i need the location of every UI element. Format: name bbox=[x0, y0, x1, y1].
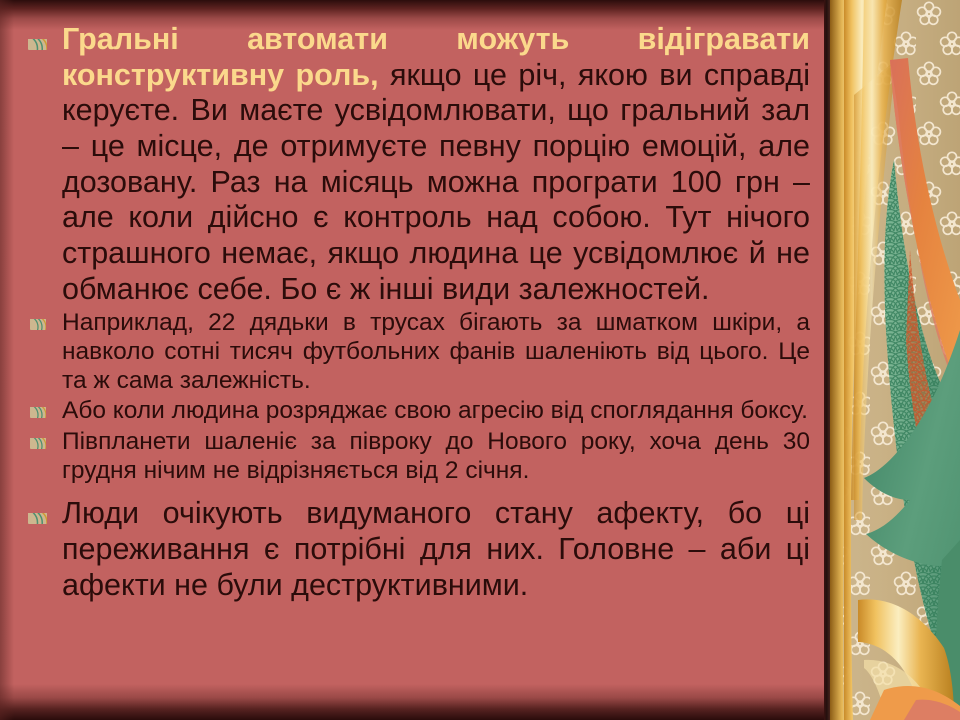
bullet-text: Наприклад, 22 дядьки в трусах бігають за… bbox=[62, 309, 810, 393]
bullet-text: Або коли людина розряджає свою агресію в… bbox=[62, 397, 808, 424]
decoration-dark-edge bbox=[824, 0, 830, 720]
slide-content-body: Гральні автомати можуть відігравати конс… bbox=[0, 0, 824, 720]
list-item: Наприклад, 22 дядьки в трусах бігають за… bbox=[24, 309, 810, 395]
decoration-artwork bbox=[824, 0, 960, 720]
list-item: Півпланети шаленіє за півроку до Нового … bbox=[24, 428, 810, 485]
ornament-bullet-icon bbox=[30, 433, 46, 449]
ornament-bullet-icon bbox=[28, 31, 47, 50]
list-item: Гральні автомати можуть відігравати конс… bbox=[24, 22, 810, 307]
presentation-slide: Гральні автомати можуть відігравати конс… bbox=[0, 0, 960, 720]
oriental-floral-border-decoration bbox=[824, 0, 960, 720]
bullet-list: Гральні автомати можуть відігравати конс… bbox=[24, 22, 810, 603]
bullet-text: Півпланети шаленіє за півроку до Нового … bbox=[62, 428, 810, 484]
bullet-text: якщо це річ, якою ви справді керуєте. Ви… bbox=[62, 58, 810, 306]
ornament-bullet-icon bbox=[30, 402, 46, 418]
ornament-bullet-icon bbox=[28, 505, 47, 524]
list-spacer bbox=[24, 487, 810, 496]
ornament-bullet-icon bbox=[30, 314, 46, 330]
list-item: Або коли людина розряджає свою агресію в… bbox=[24, 397, 810, 426]
bullet-text: Люди очікують видуманого стану афекту, б… bbox=[62, 496, 810, 601]
list-item: Люди очікують видуманого стану афекту, б… bbox=[24, 496, 810, 603]
